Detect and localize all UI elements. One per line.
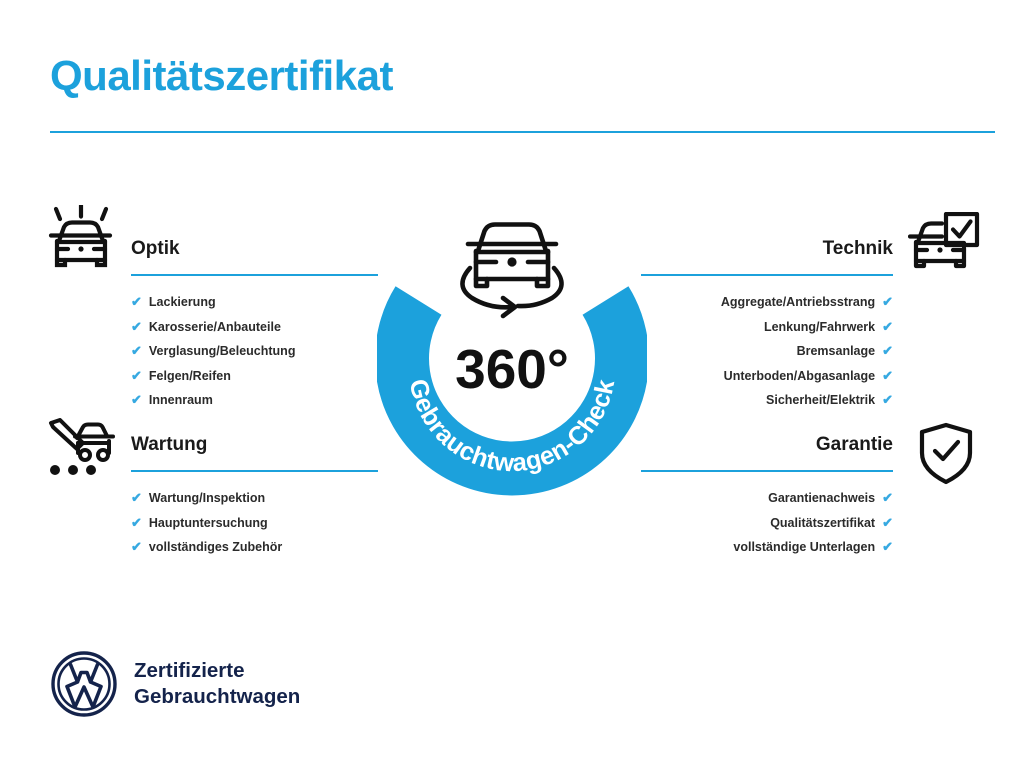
check-icon: ✔ xyxy=(882,388,893,412)
section-header-wartung: Wartung xyxy=(131,434,378,474)
vw-wordmark-line2: Gebrauchtwagen xyxy=(134,684,300,710)
section-underline xyxy=(641,470,893,472)
check-icon: ✔ xyxy=(131,364,142,388)
list-item-label: Felgen/Reifen xyxy=(149,365,231,389)
section-underline xyxy=(131,470,378,472)
section-title-wartung: Wartung xyxy=(131,434,378,456)
vw-certified-lockup: Zertifizierte Gebrauchtwagen xyxy=(50,650,300,718)
list-item-label: Bremsanlage xyxy=(797,340,876,364)
list-item: Unterboden/Abgasanlage✔ xyxy=(641,364,893,389)
list-item-label: Wartung/Inspektion xyxy=(149,487,265,511)
checklist-garantie: Garantienachweis✔ Qualitätszertifikat✔ v… xyxy=(641,486,893,560)
checklist-optik: ✔Lackierung ✔Karosserie/Anbauteile ✔Verg… xyxy=(131,290,378,413)
list-item-label: Lenkung/Fahrwerk xyxy=(764,316,875,340)
check-icon: ✔ xyxy=(882,511,893,535)
list-item: Lenkung/Fahrwerk✔ xyxy=(641,315,893,340)
car-checkbox-icon xyxy=(908,212,980,279)
list-item-label: Innenraum xyxy=(149,389,213,413)
section-header-technik: Technik xyxy=(641,238,893,278)
check-icon: ✔ xyxy=(882,364,893,388)
car-service-pen-icon xyxy=(47,418,117,485)
list-item: Bremsanlage✔ xyxy=(641,339,893,364)
section-underline xyxy=(641,274,893,276)
list-item: ✔Innenraum xyxy=(131,388,378,413)
shield-check-icon xyxy=(918,422,974,491)
list-item-label: vollständiges Zubehör xyxy=(149,536,282,560)
list-item: ✔Verglasung/Beleuchtung xyxy=(131,339,378,364)
list-item: ✔Hauptuntersuchung xyxy=(131,511,378,536)
list-item: ✔Karosserie/Anbauteile xyxy=(131,315,378,340)
quality-certificate-page: Qualitätszertifikat xyxy=(0,0,1024,768)
list-item: ✔Lackierung xyxy=(131,290,378,315)
header-divider xyxy=(50,131,995,133)
list-item: Aggregate/Antriebsstrang✔ xyxy=(641,290,893,315)
vw-wordmark: Zertifizierte Gebrauchtwagen xyxy=(134,658,300,710)
section-header-garantie: Garantie xyxy=(641,434,893,474)
checklist-wartung: ✔Wartung/Inspektion ✔Hauptuntersuchung ✔… xyxy=(131,486,378,560)
gebrauchtwagen-check-badge: Gebrauchtwagen-Check 360° xyxy=(377,196,647,496)
list-item-label: Verglasung/Beleuchtung xyxy=(149,340,296,364)
check-icon: ✔ xyxy=(131,315,142,339)
check-icon: ✔ xyxy=(882,535,893,559)
list-item: Sicherheit/Elektrik✔ xyxy=(641,388,893,413)
vw-wordmark-line1: Zertifizierte xyxy=(134,658,300,684)
section-title-technik: Technik xyxy=(641,238,893,260)
section-header-optik: Optik xyxy=(131,238,378,278)
list-item: ✔Felgen/Reifen xyxy=(131,364,378,389)
list-item: Garantienachweis✔ xyxy=(641,486,893,511)
section-garantie: Garantie Garantienachweis✔ Qualitätszert… xyxy=(641,434,893,560)
vw-logo xyxy=(50,650,118,718)
list-item: Qualitätszertifikat✔ xyxy=(641,511,893,536)
check-icon: ✔ xyxy=(131,339,142,363)
list-item-label: Karosserie/Anbauteile xyxy=(149,316,281,340)
check-icon: ✔ xyxy=(882,339,893,363)
check-icon: ✔ xyxy=(131,535,142,559)
list-item-label: Lackierung xyxy=(149,291,216,315)
car-rotate-360-icon xyxy=(462,225,561,317)
section-wartung: Wartung ✔Wartung/Inspektion ✔Hauptunters… xyxy=(131,434,378,560)
checklist-technik: Aggregate/Antriebsstrang✔ Lenkung/Fahrwe… xyxy=(641,290,893,413)
check-icon: ✔ xyxy=(131,511,142,535)
check-icon: ✔ xyxy=(131,290,142,314)
list-item-label: vollständige Unterlagen xyxy=(733,536,875,560)
list-item-label: Aggregate/Antriebsstrang xyxy=(721,291,875,315)
list-item-label: Unterboden/Abgasanlage xyxy=(724,365,875,389)
badge-center-label: 360° xyxy=(455,338,569,400)
list-item-label: Sicherheit/Elektrik xyxy=(766,389,875,413)
check-icon: ✔ xyxy=(131,388,142,412)
list-item: vollständige Unterlagen✔ xyxy=(641,535,893,560)
section-underline xyxy=(131,274,378,276)
list-item: ✔Wartung/Inspektion xyxy=(131,486,378,511)
list-item: ✔vollständiges Zubehör xyxy=(131,535,378,560)
list-item-label: Garantienachweis xyxy=(768,487,875,511)
section-optik: Optik ✔Lackierung ✔Karosserie/Anbauteile… xyxy=(131,238,378,413)
car-shine-icon xyxy=(47,205,117,278)
check-icon: ✔ xyxy=(131,486,142,510)
section-title-garantie: Garantie xyxy=(641,434,893,456)
list-item-label: Qualitätszertifikat xyxy=(770,512,875,536)
list-item-label: Hauptuntersuchung xyxy=(149,512,268,536)
page-title: Qualitätszertifikat xyxy=(50,52,393,100)
check-icon: ✔ xyxy=(882,486,893,510)
check-icon: ✔ xyxy=(882,290,893,314)
section-title-optik: Optik xyxy=(131,238,378,260)
check-icon: ✔ xyxy=(882,315,893,339)
section-technik: Technik Aggregate/Antriebsstrang✔ Lenkun… xyxy=(641,238,893,413)
